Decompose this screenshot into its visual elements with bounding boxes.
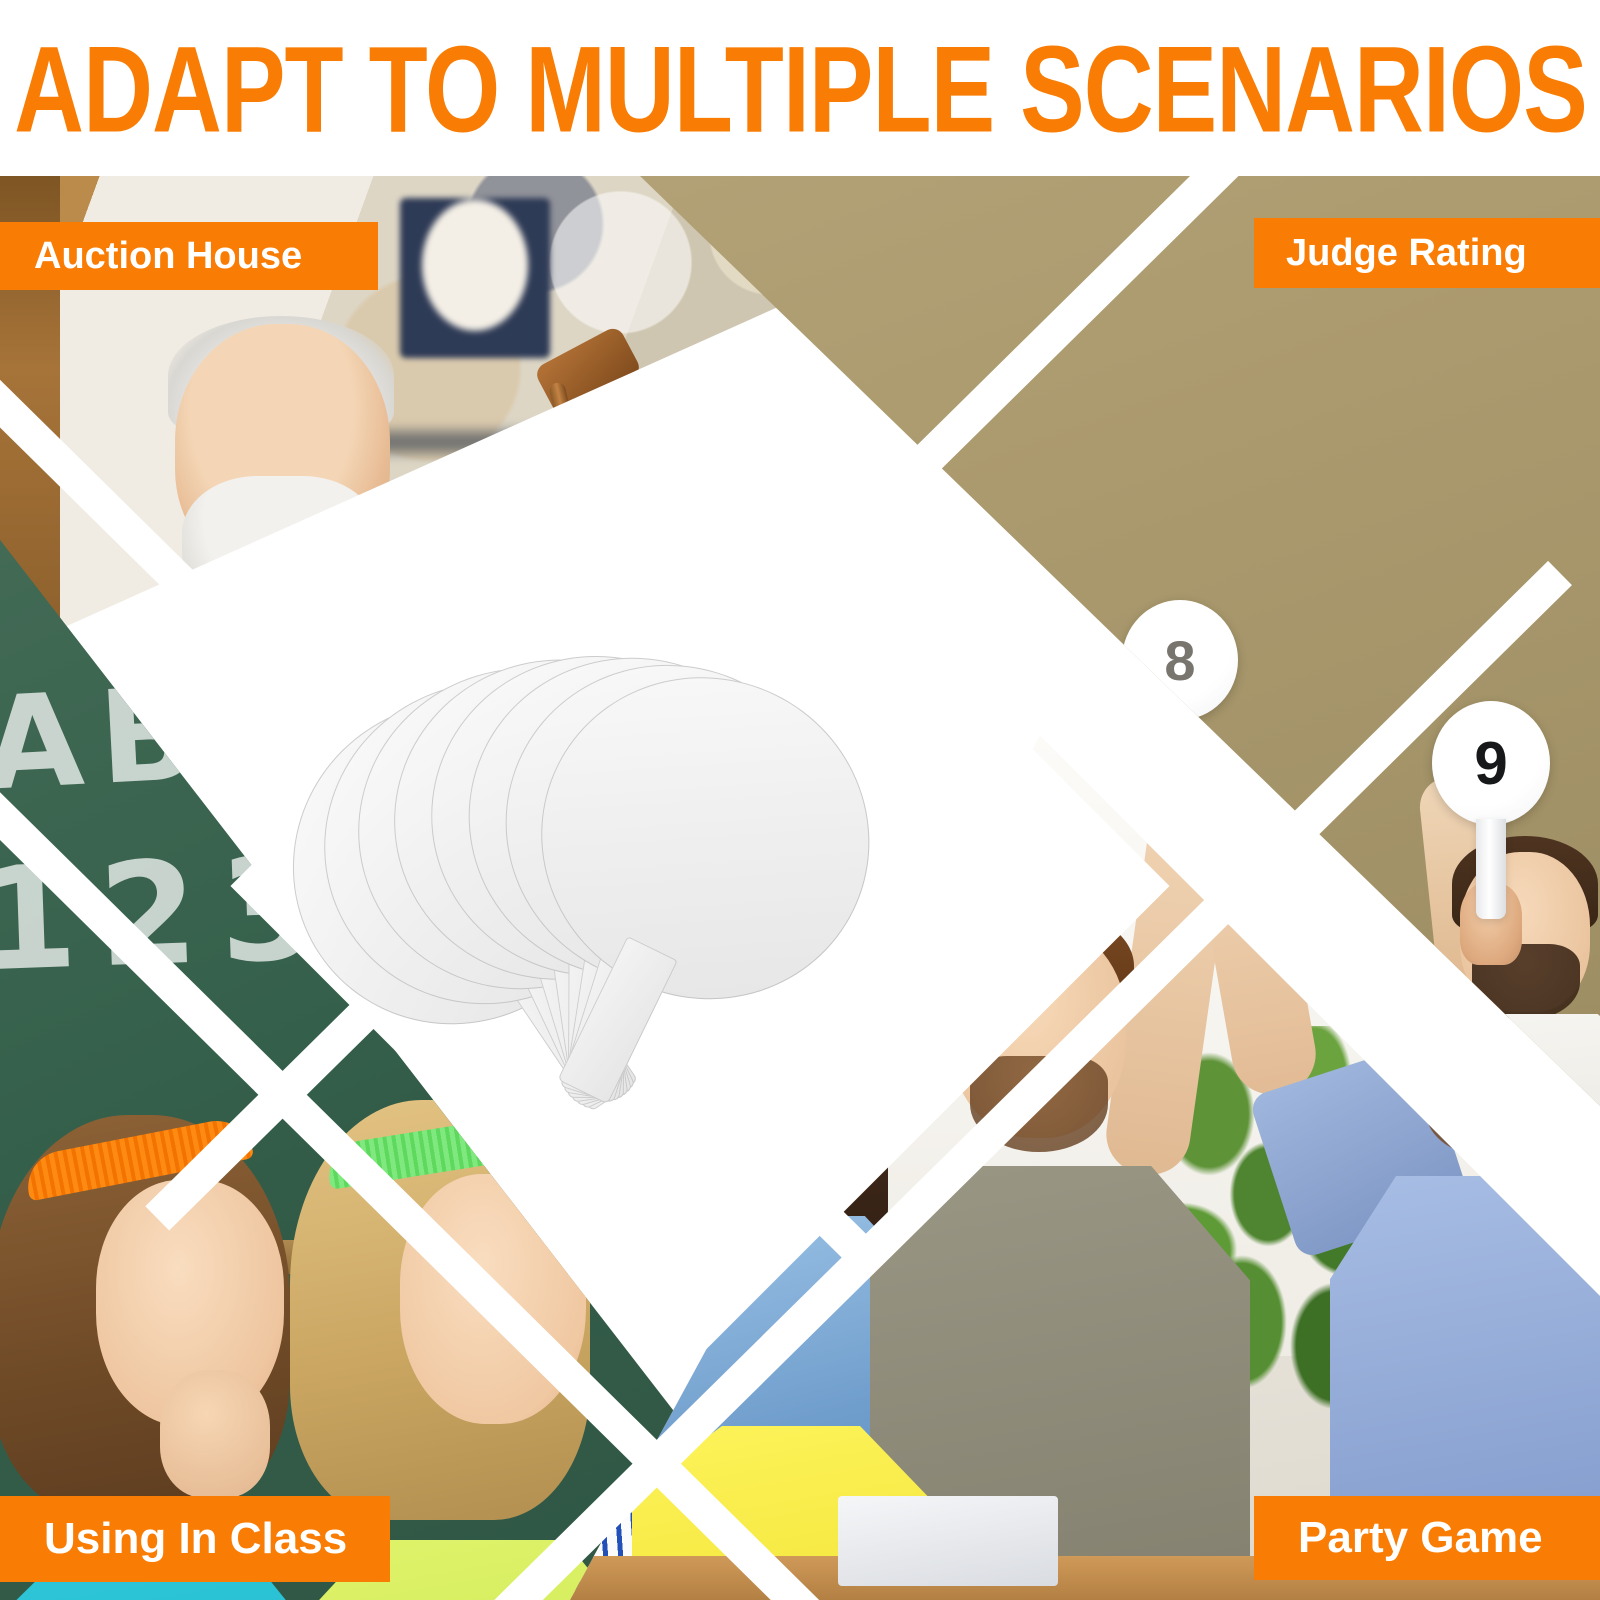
auctioneer-shirt [282, 552, 388, 656]
promo-graphic: ADAPT TO MULTIPLE SCENARIOS [0, 0, 1600, 1600]
product-paddle-handle [557, 936, 677, 1104]
framed-art-decor [400, 198, 550, 358]
badge-auction-house-label: Auction House [34, 235, 302, 278]
gavel-handle-icon [548, 381, 600, 540]
header-banner: ADAPT TO MULTIPLE SCENARIOS [0, 0, 1600, 176]
badge-judge-rating[interactable]: Judge Rating [1254, 218, 1600, 288]
paddle-handle-2 [1166, 715, 1195, 830]
badge-party-game-label: Party Game [1298, 1513, 1543, 1563]
party-man1-beard [970, 1056, 1108, 1152]
page-title: ADAPT TO MULTIPLE SCENARIOS [14, 29, 1587, 152]
badge-party-game[interactable]: Party Game [1254, 1496, 1600, 1580]
product-paddle-stack[interactable] [430, 656, 990, 1126]
microphone-icon [225, 604, 285, 656]
auctioneer-beard [182, 476, 378, 626]
badge-judge-rating-label: Judge Rating [1286, 232, 1527, 275]
laptop-decor [838, 1496, 1058, 1586]
paddle-score-3: 9 [1432, 701, 1550, 825]
paddle-score-2: 8 [1122, 600, 1238, 720]
party-man2-beard [1426, 1066, 1562, 1158]
paddle-handle-3 [1476, 819, 1506, 919]
judge-paddle-2: 8 [1122, 600, 1238, 720]
bow-tie-icon [288, 570, 372, 604]
judge-paddle-3: 9 [1432, 701, 1550, 825]
badge-auction-house[interactable]: Auction House [0, 222, 378, 290]
judge-man-shirt [1400, 1014, 1600, 1106]
scenario-collage: 8 8 9 ABC 1234 [0, 176, 1600, 1600]
girl1-hand [160, 1370, 270, 1498]
badge-using-in-class[interactable]: Using In Class [0, 1496, 390, 1582]
badge-using-in-class-label: Using In Class [44, 1514, 347, 1564]
